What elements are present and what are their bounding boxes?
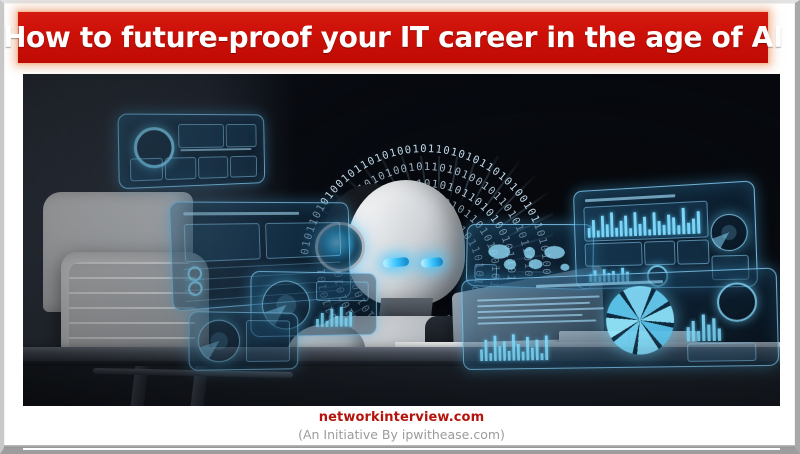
- title-banner: How to future-proof your IT career in th…: [18, 12, 768, 63]
- hero-image-scene: 0101101010010110101001011010101101010010…: [23, 74, 780, 406]
- brand-tagline: (An Initiative By ipwithease.com): [23, 427, 780, 442]
- hero-image: 0101101010010110101001011010101101010010…: [23, 74, 780, 406]
- page-title: How to future-proof your IT career in th…: [3, 21, 783, 54]
- title-banner-background: How to future-proof your IT career in th…: [18, 12, 768, 63]
- brand-name: networkinterview.com: [23, 408, 780, 425]
- footer: networkinterview.com (An Initiative By i…: [23, 408, 780, 450]
- article-header-card: How to future-proof your IT career in th…: [0, 0, 800, 454]
- vignette-overlay: [23, 74, 780, 406]
